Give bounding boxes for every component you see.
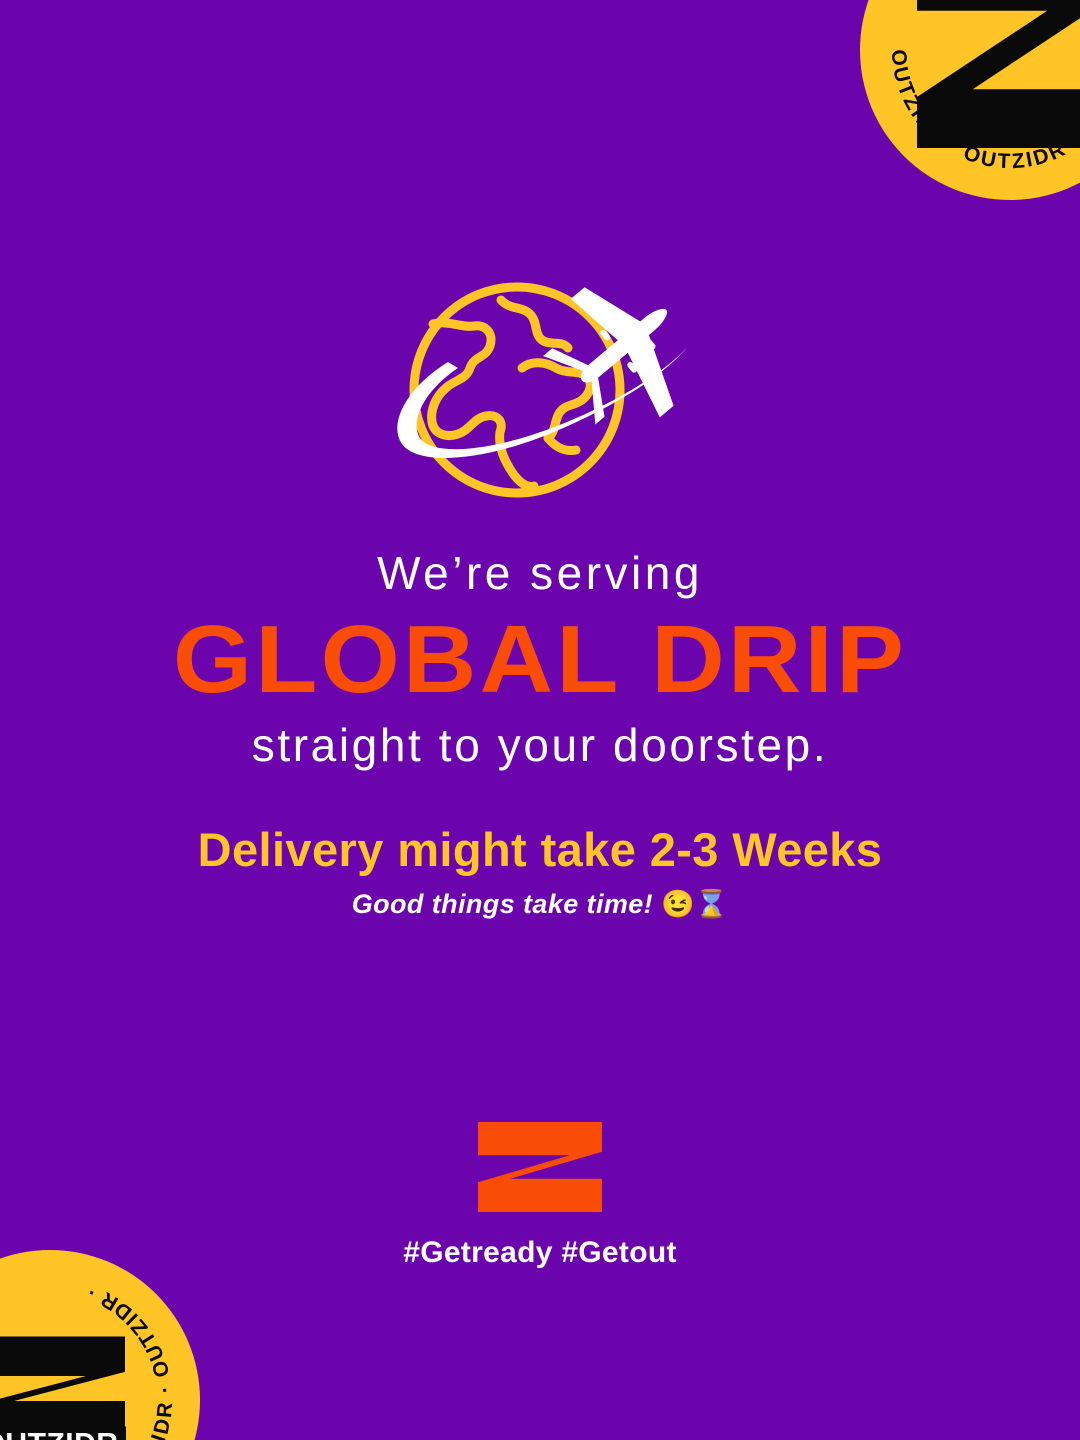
- z-monogram-icon: [917, 0, 1080, 148]
- delivery-sub-text: Good things take time! 😉⌛: [0, 888, 1080, 920]
- delivery-sub-label: Good things take time!: [352, 889, 653, 919]
- badge-mark-top-right: [905, 0, 1080, 148]
- promo-poster: OUTZIDR · OUTZIDR · OUTZIDR · OUTZIDR · …: [0, 0, 1080, 1440]
- wink-hourglass-emoji: 😉⌛: [661, 889, 728, 919]
- delivery-main-text: Delivery might take 2-3 Weeks: [0, 824, 1080, 876]
- headline-line-1: We’re serving: [0, 548, 1080, 599]
- badge-wordmark: OUTZIDR: [0, 1427, 126, 1440]
- brand-badge-top-right: OUTZIDR · OUTZIDR · OUTZIDR · OUTZIDR ·: [860, 0, 1080, 200]
- brand-z-logo-icon: [478, 1122, 602, 1212]
- globe-airplane-icon: [0, 276, 1080, 508]
- footer-block: #Getready #Getout: [0, 1122, 1080, 1270]
- badge-mark-bottom-left: OUTZIDR: [0, 1337, 135, 1440]
- headline-line-3: straight to your doorstep.: [0, 718, 1080, 773]
- delivery-notice-block: Delivery might take 2-3 Weeks Good thing…: [0, 824, 1080, 920]
- hashtags-text: #Getready #Getout: [0, 1236, 1080, 1270]
- brand-badge-bottom-left: OUTZIDR · OUTZIDR · OUTZIDR · OUTZIDR · …: [0, 1250, 200, 1440]
- headline-line-2: GLOBAL DRIP: [0, 603, 1080, 716]
- headline-block: We’re serving GLOBAL DRIP straight to yo…: [0, 548, 1080, 773]
- z-monogram-icon: [0, 1337, 125, 1440]
